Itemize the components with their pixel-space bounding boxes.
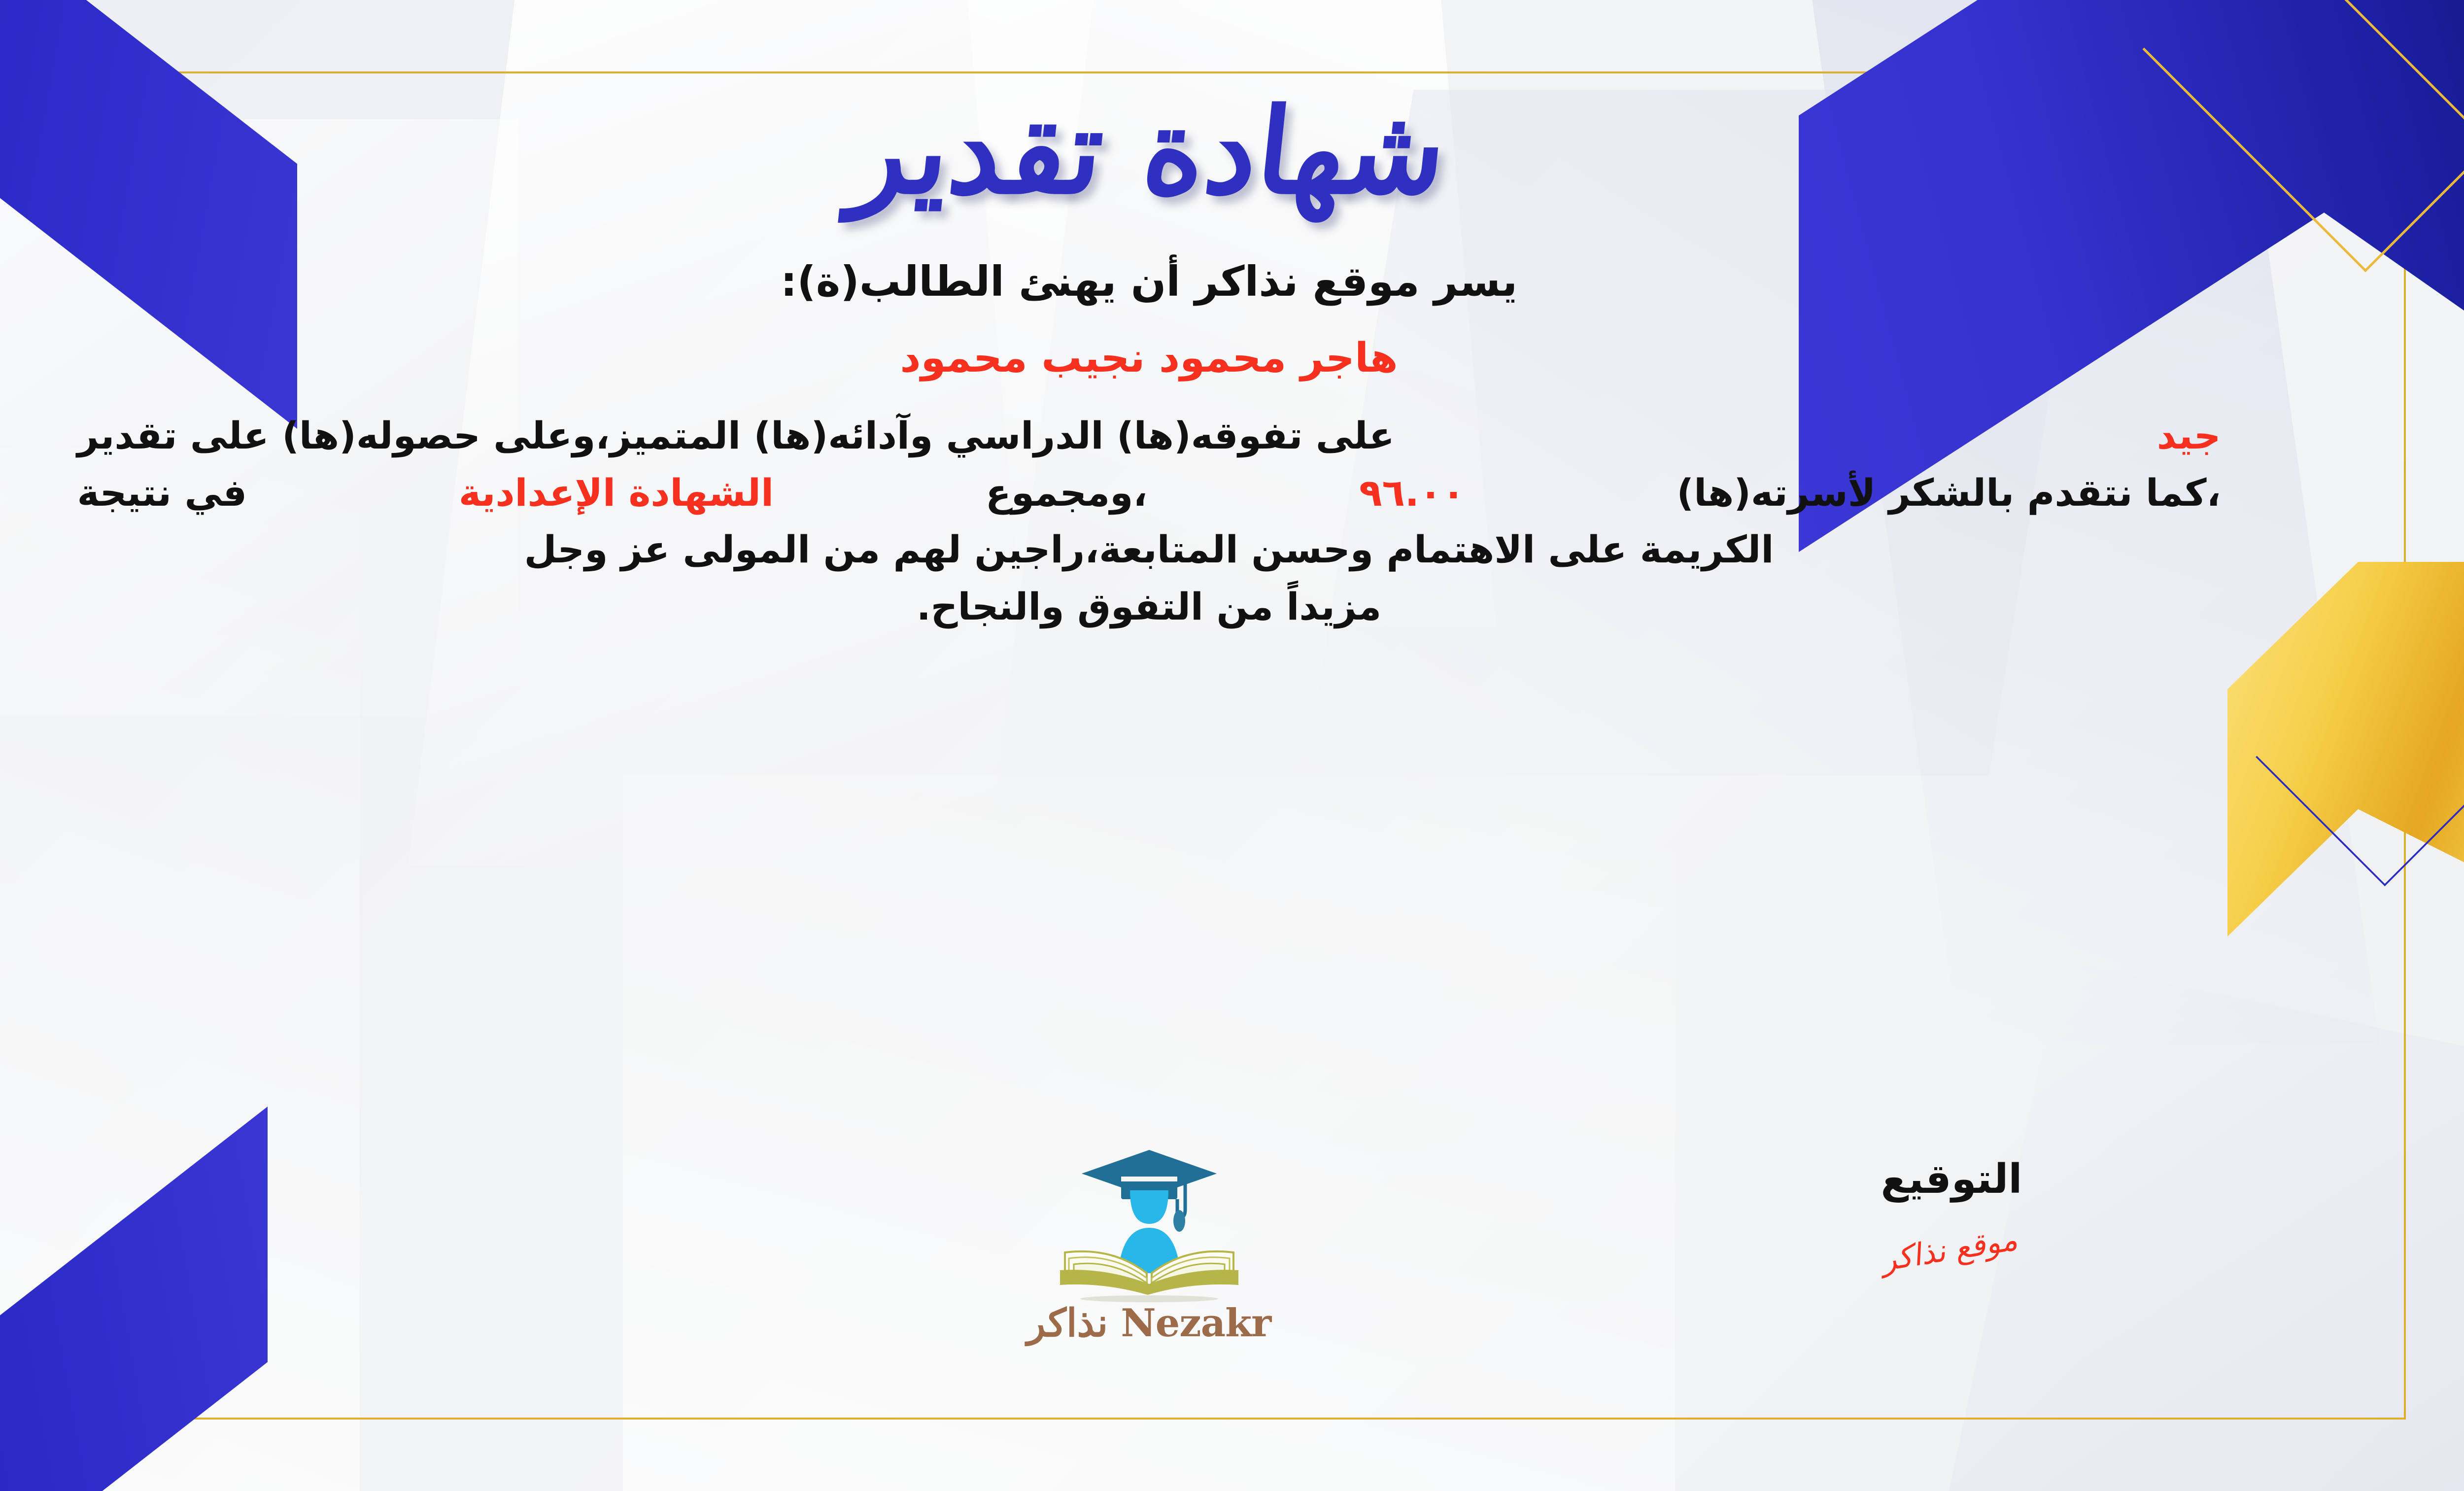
student-name: هاجر محمود نجيب محمود [900,333,1398,384]
score-value: ٩٦.٠٠ [1359,464,1465,521]
body-line-achievement: جيد على تفوقه(ها) الدراسي وآدائه(ها) الم… [77,407,2221,464]
graduate-book-logo-icon [1043,1141,1255,1304]
grade-value: جيد [2157,407,2221,464]
certificate-body: جيد على تفوقه(ها) الدراسي وآدائه(ها) الم… [77,407,2221,635]
signature-script: موقع نذاكر [1883,1220,2020,1278]
intro-text: يسر موقع نذاكر أن يهنئ الطالب(ة): [781,256,1517,308]
certificate-title: شهادة تقدير [846,90,1452,213]
signature-block: التوقيع موقع نذاكر [1823,1156,2080,1267]
brand-logo: Nezakr نذاكر [967,1141,1332,1346]
result-label: في نتيجة [77,464,247,521]
total-label: ،ومجموع [986,464,1147,521]
signature-label: التوقيع [1823,1156,2080,1203]
body-line-result: ،كما نتقدم بالشكر لأسرته(ها) ٩٦.٠٠ ،ومجم… [77,464,2221,521]
body-line-wish: مزيداً من التفوق والنجاح. [77,578,2221,635]
certificate-canvas: شهادة تقدير يسر موقع نذاكر أن يهنئ الطال… [0,0,2464,1491]
achievement-text: على تفوقه(ها) الدراسي وآدائه(ها) المتميز… [77,407,1395,464]
certificate-footer: التوقيع موقع نذاكر [0,1141,2464,1417]
body-line-family: الكريمة على الاهتمام وحسن المتابعة،راجين… [77,521,2221,578]
thanks-text: ،كما نتقدم بالشكر لأسرته(ها) [1677,464,2221,521]
certificate-type: الشهادة الإعدادية [459,464,774,521]
brand-logo-text: Nezakr نذاكر [967,1301,1332,1346]
